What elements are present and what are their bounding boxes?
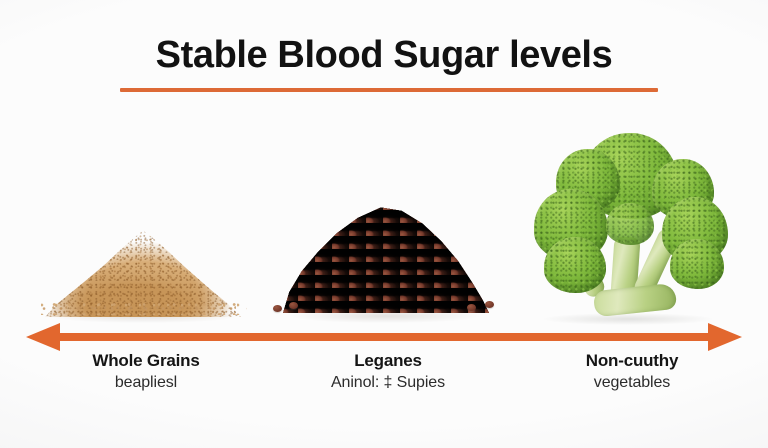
bean-texture-overlay [281,197,489,313]
label-group-vegetables: Non-cuuthy vegetables [524,350,740,394]
label-subtitle-legumes: Aninol: ‡ Supies [282,372,494,394]
title-block: Stable Blood Sugar levels [0,33,768,77]
title-underline-rule [120,88,658,92]
broccoli-floret-lower-right [670,239,724,289]
double-headed-arrow-icon [0,322,768,352]
infographic-canvas: Stable Blood Sugar levels [0,0,768,448]
food-image-whole-grains [28,110,258,325]
label-subtitle-whole-grains: beapliesl [40,372,252,394]
grain-stray-kernels [41,299,247,315]
label-title-whole-grains: Whole Grains [40,350,252,372]
broccoli-photo [520,119,736,319]
broccoli-stalk-base [592,283,676,317]
bean-pile-photo [281,197,489,313]
food-image-row [0,110,768,325]
food-image-vegetables [510,110,745,325]
spectrum-arrow [0,322,768,352]
bean-stray-beans [271,299,499,313]
label-group-whole-grains: Whole Grains beapliesl [40,350,252,394]
label-title-legumes: Leganes [282,350,494,372]
broccoli-floret-center-small [606,203,654,245]
label-title-vegetables: Non-cuuthy [524,350,740,372]
label-row: Whole Grains beapliesl Leganes Aninol: ‡… [0,350,768,408]
food-image-legumes [270,110,500,325]
label-group-legumes: Leganes Aninol: ‡ Supies [282,350,494,394]
page-title: Stable Blood Sugar levels [0,33,768,77]
label-subtitle-vegetables: vegetables [524,372,740,394]
broccoli-floret-lower-left [544,237,606,293]
grain-pile-photo [45,221,241,317]
